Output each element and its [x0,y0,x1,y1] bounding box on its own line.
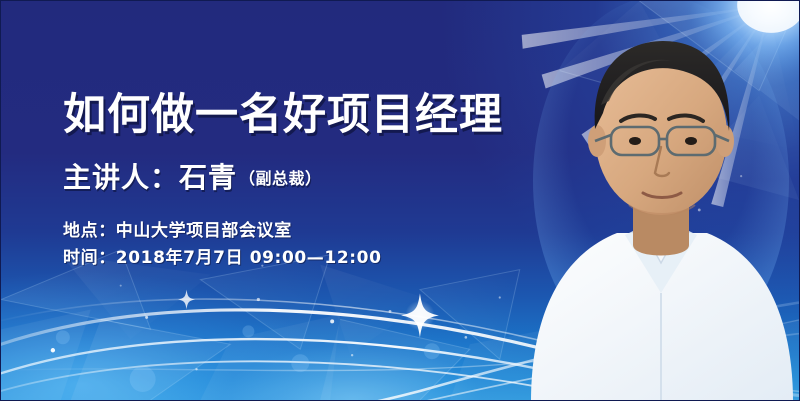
event-details: 地点：中山大学项目部会议室 时间：2018年7月7日 09:00—12:00 [63,218,503,273]
seminar-poster: 如何做一名好项目经理 主讲人：石青（副总裁） 地点：中山大学项目部会议室 时间：… [0,0,800,401]
speaker-role: （副总裁） [239,169,322,188]
speaker-name: 石青 [179,161,237,194]
four-point-sparkle [401,294,439,338]
time-line: 时间：2018年7月7日 09:00—12:00 [63,245,503,273]
speaker-portrait [521,1,800,401]
small-sparkle [178,290,195,310]
speaker-line: 主讲人：石青（副总裁） [63,156,503,196]
location-line: 地点：中山大学项目部会议室 [63,218,503,246]
speaker-label: 主讲人： [63,161,179,194]
page-title: 如何做一名好项目经理 [63,93,503,139]
poster-text-block: 如何做一名好项目经理 主讲人：石青（副总裁） 地点：中山大学项目部会议室 时间：… [63,93,503,273]
